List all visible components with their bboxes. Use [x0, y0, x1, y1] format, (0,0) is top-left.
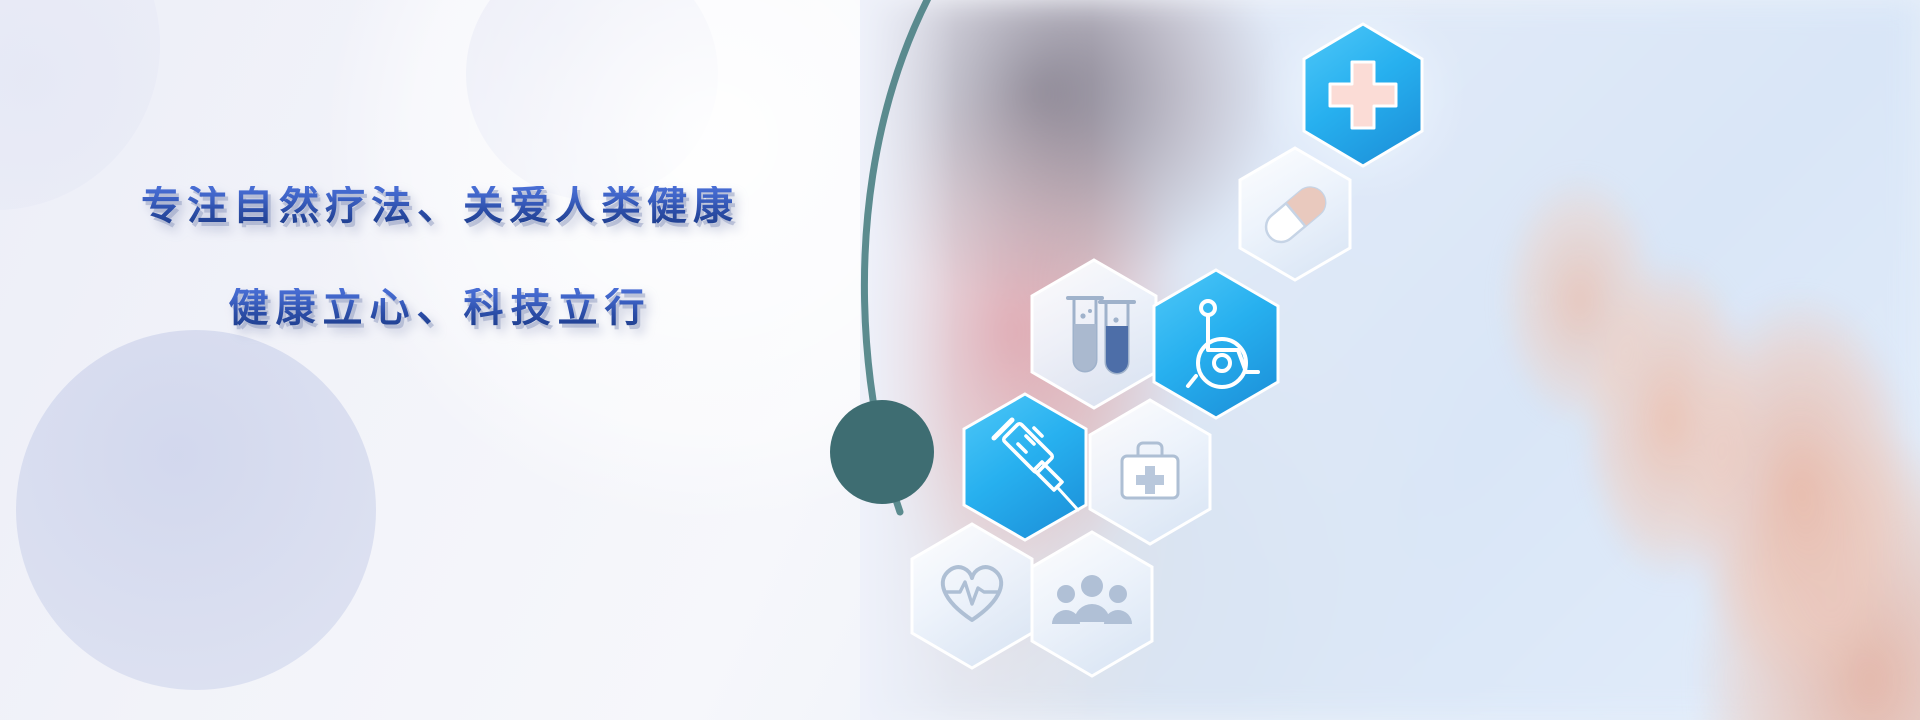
hex-tile-pill[interactable]	[1236, 146, 1354, 282]
arc-node-circle	[830, 400, 934, 504]
headline-line-2: 健康立心、科技立行	[0, 288, 880, 328]
decorative-circle-top	[466, 0, 718, 200]
hex-tile-people[interactable]	[1028, 530, 1156, 678]
decorative-circle-bottom	[16, 330, 376, 690]
headline-line-1: 专注自然疗法、关爱人类健康	[0, 186, 880, 226]
decorative-circle-far-left	[0, 0, 160, 210]
hex-tile-heart[interactable]	[908, 522, 1036, 670]
hex-tile-medical-bag[interactable]	[1086, 398, 1214, 546]
headline-block: 专注自然疗法、关爱人类健康 健康立心、科技立行	[0, 186, 880, 328]
hero-banner: 专注自然疗法、关爱人类健康 健康立心、科技立行	[0, 0, 1920, 720]
